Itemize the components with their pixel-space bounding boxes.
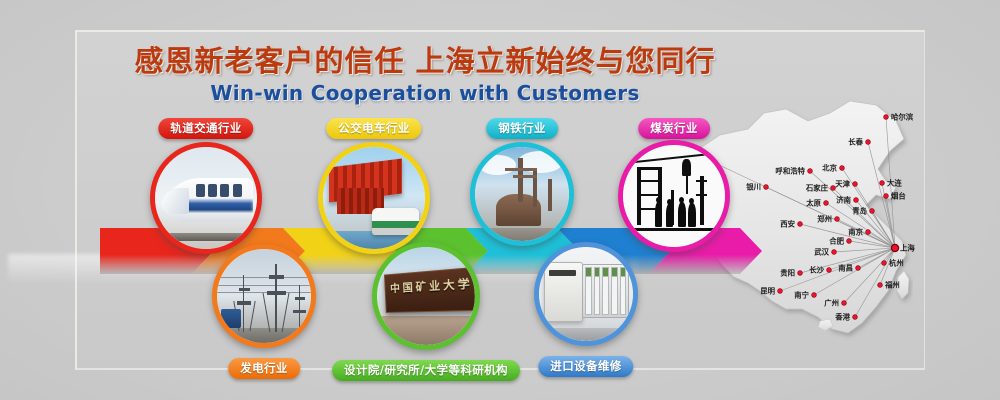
photo-high-speed-train (155, 147, 257, 249)
industry-label-steel: 钢铁行业 (486, 118, 558, 139)
photo-switchgear-cabinets (539, 247, 633, 341)
city-label-昆明: 昆明 (760, 287, 775, 296)
industry-node-rail[interactable]: 轨道交通行业 (150, 118, 262, 254)
cabinet-panel (594, 267, 601, 316)
headframe-brace (637, 194, 661, 196)
city-label-福州: 福州 (884, 281, 900, 290)
city-dot-太原[interactable] (824, 201, 829, 206)
city-label-贵阳: 贵阳 (780, 269, 795, 278)
industry-node-steel[interactable]: 钢铁行业 (470, 118, 574, 246)
city-dot-烟台[interactable] (884, 194, 889, 199)
city-dot-南昌[interactable] (856, 266, 861, 271)
rail-track (155, 233, 257, 241)
city-dot-贵阳[interactable] (798, 271, 803, 276)
city-dot-青岛[interactable] (870, 209, 875, 214)
city-dot-北京[interactable] (840, 166, 845, 171)
city-dot-杭州[interactable] (882, 261, 887, 266)
city-dot-香港[interactable] (853, 315, 858, 320)
industry-node-research[interactable]: 中国矿业大学 设计院/研究所/大学等科研机构 (372, 242, 480, 350)
switchgear-cabinet-row (582, 264, 629, 319)
worker-head (656, 197, 661, 203)
floor (539, 328, 633, 341)
overhead-cable (633, 153, 712, 163)
city-label-南宁: 南宁 (794, 291, 809, 300)
city-dot-长春[interactable] (866, 140, 871, 145)
worker-silhouette (678, 202, 686, 226)
city-label-长沙: 长沙 (809, 266, 824, 275)
signboard-text: 中国矿业大学 (390, 274, 474, 295)
industry-photo-coal[interactable] (618, 140, 730, 252)
industry-photo-power[interactable] (212, 244, 316, 348)
city-dot-西安[interactable] (798, 222, 803, 227)
city-dot-福州[interactable] (878, 283, 883, 288)
derrick-mast (700, 176, 704, 225)
city-label-广州: 广州 (824, 299, 839, 308)
promo-banner: 哈尔滨长春乌鲁木齐呼和浩特北京银川天津大连石家庄济南烟台太原青岛西安郑州合肥南京… (0, 0, 1000, 400)
cabinet-panel (620, 267, 627, 316)
derrick-brace (696, 180, 706, 182)
city-label-呼和浩特: 呼和浩特 (775, 167, 805, 176)
city-dot-郑州[interactable] (835, 217, 840, 222)
industry-node-bus[interactable]: 公交电车行业 (318, 118, 430, 254)
city-dot-长沙[interactable] (827, 268, 832, 273)
city-label-银川: 银川 (746, 183, 761, 192)
city-label-青岛: 青岛 (852, 207, 867, 216)
cabinet-panel (602, 267, 609, 316)
city-label-长春: 长春 (848, 138, 863, 147)
furnace-tower (518, 158, 523, 201)
pylon (292, 285, 307, 332)
industry-node-power[interactable]: 发电行业 (212, 244, 316, 348)
mill-ground (475, 228, 569, 241)
industry-photo-bus[interactable] (318, 142, 430, 254)
headframe-top (637, 167, 661, 170)
train-window (208, 184, 217, 197)
city-dot-广州[interactable] (842, 301, 847, 306)
city-dot-合肥[interactable] (847, 239, 852, 244)
city-label-上海: 上海 (900, 244, 915, 253)
utility-truck (221, 309, 242, 328)
city-dot-石家庄[interactable] (831, 186, 836, 191)
city-dot-上海[interactable] (891, 244, 898, 251)
photo-steel-mill-blast-furnace (475, 147, 569, 241)
university-signboard: 中国矿业大学 (384, 266, 475, 312)
cabinet-panel (611, 267, 618, 316)
city-label-郑州: 郑州 (817, 215, 832, 224)
city-dot-天津[interactable] (853, 182, 858, 187)
worker-silhouette (655, 202, 662, 226)
ground-line (623, 228, 725, 231)
industry-label-import: 进口设备维修 (538, 356, 633, 377)
cabinet-panel (585, 267, 592, 316)
train-window (196, 184, 205, 197)
industry-photo-import[interactable] (534, 242, 638, 346)
campus-building (377, 316, 475, 345)
city-label-合肥: 合肥 (828, 237, 844, 246)
city-label-哈尔滨: 哈尔滨 (891, 113, 914, 122)
derrick-brace (696, 194, 706, 196)
city-dot-济南[interactable] (854, 198, 859, 203)
cloud (479, 155, 517, 176)
hainan-island (818, 319, 833, 331)
city-label-武汉: 武汉 (814, 248, 829, 257)
industry-node-coal[interactable]: 煤炭行业 (618, 118, 730, 252)
gantry-beam (513, 175, 537, 178)
city-dot-南宁[interactable] (812, 293, 817, 298)
city-dot-哈尔滨[interactable] (884, 115, 889, 120)
city-label-太原: 太原 (805, 199, 821, 208)
worker-silhouette (666, 204, 673, 226)
smokestack (548, 179, 552, 211)
photo-university-entrance-sign: 中国矿业大学 (377, 247, 475, 345)
photo-coal-mine-headframe (623, 145, 725, 247)
city-label-北京: 北京 (822, 164, 837, 173)
photo-city-bus-expo-pavilion (323, 147, 425, 249)
industry-label-coal: 煤炭行业 (638, 118, 710, 139)
city-label-南京: 南京 (848, 228, 863, 237)
industry-photo-steel[interactable] (470, 142, 574, 246)
industry-label-bus: 公交电车行业 (326, 118, 421, 139)
city-dot-昆明[interactable] (778, 289, 783, 294)
hook-line (686, 176, 688, 194)
photo-power-transmission-towers (217, 249, 311, 343)
pylon (266, 264, 287, 332)
headframe-leg (637, 167, 641, 224)
city-label-香港: 香港 (834, 313, 850, 322)
gantry-beam (505, 168, 537, 172)
city-bus (372, 208, 419, 235)
city-label-烟台: 烟台 (891, 192, 906, 201)
industry-photo-research[interactable]: 中国矿业大学 (372, 242, 480, 350)
headframe-brace (637, 180, 661, 182)
city-dot-南京[interactable] (866, 230, 871, 235)
city-dot-武汉[interactable] (832, 250, 837, 255)
city-label-南昌: 南昌 (838, 264, 853, 273)
city-label-西安: 西安 (780, 220, 795, 229)
worker-silhouette (688, 203, 696, 226)
crane-hook-block (682, 159, 691, 175)
circuit-breaker (544, 262, 584, 322)
city-dot-银川[interactable] (764, 185, 769, 190)
train-window (220, 184, 229, 197)
city-label-大连: 大连 (887, 179, 902, 188)
power-line (217, 277, 311, 278)
city-dot-呼和浩特[interactable] (808, 169, 813, 174)
industry-label-power: 发电行业 (228, 358, 300, 379)
industry-photo-rail[interactable] (150, 142, 262, 254)
train-window (233, 184, 242, 197)
city-label-石家庄: 石家庄 (805, 184, 829, 193)
city-label-杭州: 杭州 (889, 259, 904, 268)
city-label-济南: 济南 (836, 196, 851, 205)
train-nose (162, 188, 189, 215)
city-label-天津: 天津 (835, 180, 850, 189)
industry-node-import[interactable]: 进口设备维修 (534, 242, 638, 346)
city-dot-大连[interactable] (880, 181, 885, 186)
industry-label-research: 设计院/研究所/大学等科研机构 (332, 360, 520, 381)
industry-label-rail: 轨道交通行业 (158, 118, 253, 139)
